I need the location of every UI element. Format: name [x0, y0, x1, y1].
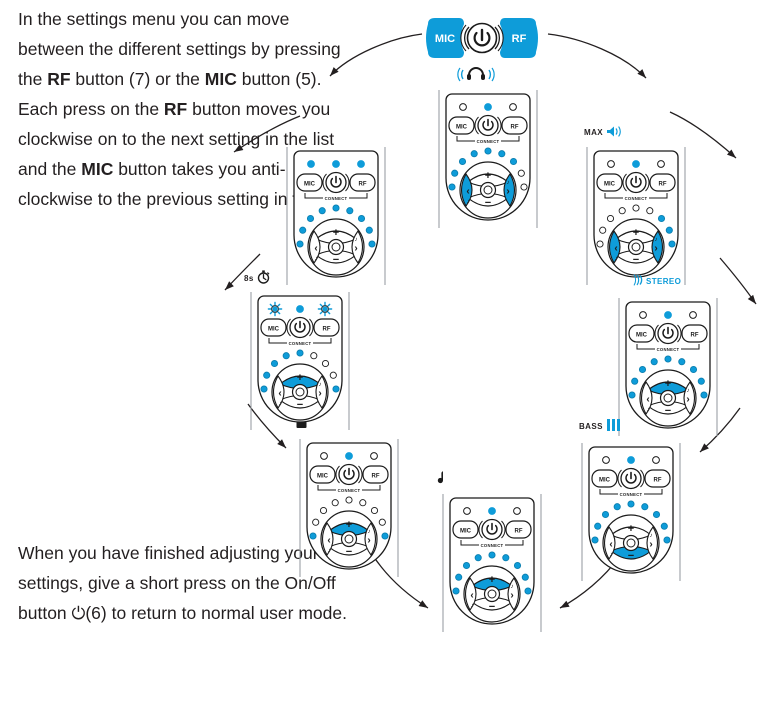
- arrow-top-left: [328, 34, 422, 78]
- svg-text:›: ›: [318, 388, 321, 399]
- rf-button[interactable]: RF: [650, 174, 675, 191]
- device-label-stereo: STEREO: [632, 274, 681, 288]
- top-led-2: [358, 161, 365, 168]
- top-led-1: [633, 161, 640, 168]
- arc-led-1: [632, 378, 638, 384]
- device-body-stereo: MICRFCONNECT+−‹›♪♪: [612, 296, 724, 438]
- music-note-icon: [436, 470, 446, 488]
- svg-text:+: +: [333, 227, 339, 239]
- ok-button[interactable]: [481, 183, 496, 198]
- arc-led-5: [347, 208, 353, 214]
- svg-text:CONNECT: CONNECT: [657, 347, 680, 352]
- mic-button[interactable]: MIC: [449, 117, 474, 134]
- svg-text:MIC: MIC: [636, 333, 648, 339]
- rf-button[interactable]: RF: [350, 174, 375, 191]
- arc-led-6: [653, 511, 659, 517]
- svg-text:‹: ‹: [314, 243, 317, 254]
- svg-text:›: ›: [649, 539, 652, 550]
- svg-text:MIC: MIC: [317, 474, 329, 480]
- stereo-waves-icon: [632, 274, 643, 288]
- top-led-1: [489, 508, 496, 515]
- right-note-glyph: ♪: [511, 584, 514, 590]
- ok-button[interactable]: [485, 587, 500, 602]
- arc-led-2: [607, 215, 613, 221]
- arc-led-7: [379, 519, 385, 525]
- arc-led-7: [522, 574, 528, 580]
- left-note-glyph: ♪: [467, 199, 470, 205]
- dpad[interactable]: +−‹›♪♪: [308, 219, 364, 275]
- svg-text:›: ›: [654, 243, 657, 254]
- svg-text:−: −: [628, 550, 634, 562]
- device-body-lock: MICRFCONNECT+−‹›♪♪: [293, 437, 405, 579]
- svg-text:MIC: MIC: [456, 125, 468, 131]
- arc-led-8: [669, 241, 675, 247]
- arc-led-5: [499, 151, 505, 157]
- arc-led-1: [600, 227, 606, 233]
- arc-led-2: [271, 360, 277, 366]
- arc-led-2: [320, 507, 326, 513]
- arc-led-5: [647, 208, 653, 214]
- top-led-2: [690, 312, 697, 319]
- arc-led-4: [489, 552, 495, 558]
- arc-led-1: [300, 227, 306, 233]
- device-headset[interactable]: MICRFCONNECT+−‹›♪♪: [432, 88, 544, 230]
- device-label-text-bass: BASS: [579, 422, 603, 431]
- svg-text:−: −: [297, 399, 303, 411]
- svg-text:MIC: MIC: [268, 327, 280, 333]
- right-note-glyph: ♪: [650, 533, 653, 539]
- rf-button[interactable]: RF: [502, 117, 527, 134]
- right-note-glyph: ♪: [355, 237, 358, 243]
- arc-led-0: [629, 392, 635, 398]
- device-body-music: MICRFCONNECT+−‹›♪♪: [436, 492, 548, 634]
- arc-led-6: [322, 360, 328, 366]
- device-music[interactable]: MICRFCONNECT+−‹›♪♪: [436, 492, 548, 634]
- top-led-2: [658, 161, 665, 168]
- device-body-bass: MICRFCONNECT+−‹›♪♪: [575, 441, 687, 583]
- power-icon[interactable]: [461, 24, 503, 53]
- arc-led-1: [456, 574, 462, 580]
- arc-led-2: [639, 366, 645, 372]
- text-run-2: button (7) or the: [71, 69, 205, 89]
- dpad[interactable]: +−‹›♪♪: [460, 162, 516, 218]
- dpad[interactable]: +−‹›♪♪: [272, 364, 328, 420]
- left-note-glyph: ♪: [328, 548, 331, 554]
- header-button-pill: MIC RF: [422, 14, 542, 62]
- arc-led-8: [664, 537, 670, 543]
- mic-button[interactable]: MIC: [629, 325, 654, 342]
- svg-text:›: ›: [367, 535, 370, 546]
- device-stereo[interactable]: STEREOMICRFCONNECT+−‹›♪♪: [612, 296, 724, 438]
- arc-led-7: [330, 372, 336, 378]
- arc-led-4: [633, 205, 639, 211]
- top-led-1: [333, 161, 340, 168]
- top-led-0: [640, 312, 647, 319]
- top-led-0: [460, 104, 467, 111]
- svg-text:‹: ‹: [470, 590, 473, 601]
- dpad[interactable]: +−‹›♪♪: [321, 511, 377, 567]
- arc-led-0: [597, 241, 603, 247]
- device-label-max: MAX: [584, 125, 622, 140]
- svg-text:RF: RF: [659, 182, 667, 188]
- arc-led-7: [518, 170, 524, 176]
- ok-button[interactable]: [293, 385, 308, 400]
- arc-led-6: [358, 215, 364, 221]
- top-led-2: [514, 508, 521, 515]
- mic-button[interactable]: MIC: [597, 174, 622, 191]
- svg-text:CONNECT: CONNECT: [289, 341, 312, 346]
- mic-pill-label: MIC: [435, 33, 455, 45]
- text-run-5: RF: [164, 99, 187, 119]
- arc-led-5: [642, 504, 648, 510]
- arc-led-2: [463, 562, 469, 568]
- dpad[interactable]: +−‹›♪♪: [464, 566, 520, 622]
- top-led-2: [371, 453, 378, 460]
- svg-text:CONNECT: CONNECT: [625, 196, 648, 201]
- arc-led-1: [452, 170, 458, 176]
- settings-cycle-diagram: MIC RF MICRFCONNECT+−‹›♪♪MAXMICRFCONNECT…: [200, 0, 764, 705]
- arc-led-5: [679, 359, 685, 365]
- brightness-star-right: [318, 302, 331, 315]
- svg-text:−: −: [346, 546, 352, 558]
- top-led-0: [464, 508, 471, 515]
- bars-icon: [606, 419, 622, 433]
- arc-led-4: [628, 501, 634, 507]
- dpad[interactable]: +−‹›♪♪: [640, 370, 696, 426]
- device-lock[interactable]: MICRFCONNECT+−‹›♪♪: [293, 437, 405, 579]
- arrow-right-mid: [720, 258, 759, 306]
- arc-led-8: [701, 392, 707, 398]
- right-note-glyph: ♪: [687, 388, 690, 394]
- arc-led-7: [698, 378, 704, 384]
- svg-text:›: ›: [510, 590, 513, 601]
- left-note-glyph: ♪: [315, 256, 318, 262]
- device-body-allon: MICRFCONNECT+−‹›♪♪: [280, 145, 392, 287]
- svg-text:CONNECT: CONNECT: [477, 139, 500, 144]
- top-led-0: [308, 161, 315, 168]
- svg-text:RF: RF: [323, 327, 331, 333]
- svg-text:+: +: [346, 519, 352, 531]
- svg-text:‹: ‹: [278, 388, 281, 399]
- arc-led-4: [485, 148, 491, 154]
- arc-led-5: [360, 500, 366, 506]
- svg-text:+: +: [485, 170, 491, 182]
- svg-text:RF: RF: [359, 182, 367, 188]
- arc-led-7: [666, 227, 672, 233]
- left-note-glyph: ♪: [610, 552, 613, 558]
- arc-led-0: [261, 386, 267, 392]
- arc-led-4: [346, 497, 352, 503]
- device-label-brightness: 8s: [244, 270, 270, 286]
- device-bass[interactable]: BASSMICRFCONNECT+−‹›♪♪: [575, 441, 687, 583]
- device-label-text-max: MAX: [584, 128, 603, 137]
- arc-led-3: [619, 208, 625, 214]
- top-led-1: [665, 312, 672, 319]
- arc-led-3: [614, 504, 620, 510]
- svg-text:MIC: MIC: [599, 478, 611, 484]
- ok-button[interactable]: [342, 532, 357, 547]
- arc-led-0: [449, 184, 455, 190]
- brightness-star-left: [268, 302, 281, 315]
- ok-button[interactable]: [661, 391, 676, 406]
- svg-text:‹: ‹: [466, 186, 469, 197]
- ok-button[interactable]: [624, 536, 639, 551]
- arc-led-3: [471, 151, 477, 157]
- arc-led-8: [333, 386, 339, 392]
- arc-led-1: [264, 372, 270, 378]
- rf-button[interactable]: RF: [314, 319, 339, 336]
- arc-led-4: [333, 205, 339, 211]
- arc-led-5: [503, 555, 509, 561]
- arc-led-7: [366, 227, 372, 233]
- svg-text:+: +: [633, 227, 639, 239]
- arc-led-1: [313, 519, 319, 525]
- left-note-glyph: ♪: [471, 603, 474, 609]
- rf-button[interactable]: RF: [506, 521, 531, 538]
- dpad[interactable]: +−‹›♪♪: [603, 515, 659, 571]
- arc-led-4: [665, 356, 671, 362]
- top-led-2: [653, 457, 660, 464]
- speaker-waves-icon: [606, 125, 622, 140]
- svg-text:‹: ‹: [327, 535, 330, 546]
- arrow-top-right: [548, 34, 648, 80]
- stopwatch-icon: [257, 270, 270, 286]
- arc-led-6: [371, 507, 377, 513]
- device-brightness[interactable]: 8sMICRFCONNECT+−‹›♪♪: [244, 290, 356, 432]
- svg-text:‹: ‹: [646, 394, 649, 405]
- arc-led-2: [459, 158, 465, 164]
- arc-led-0: [592, 537, 598, 543]
- arc-led-7: [661, 523, 667, 529]
- svg-text:›: ›: [686, 394, 689, 405]
- arc-led-8: [521, 184, 527, 190]
- device-max[interactable]: MAXMICRFCONNECT+−‹›♪♪: [580, 145, 692, 287]
- svg-text:MIC: MIC: [460, 529, 472, 535]
- text-run-7: MIC: [81, 159, 113, 179]
- top-led-1: [346, 453, 353, 460]
- svg-text:MIC: MIC: [604, 182, 616, 188]
- svg-text:−: −: [633, 254, 639, 266]
- top-led-0: [608, 161, 615, 168]
- device-body-brightness: MICRFCONNECT+−‹›♪♪: [244, 290, 356, 432]
- svg-text:CONNECT: CONNECT: [338, 488, 361, 493]
- svg-text:−: −: [333, 254, 339, 266]
- arc-led-6: [690, 366, 696, 372]
- arc-led-2: [307, 215, 313, 221]
- top-led-1: [297, 306, 304, 313]
- device-label-text-stereo: STEREO: [646, 277, 681, 286]
- svg-text:−: −: [489, 601, 495, 613]
- svg-text:−: −: [485, 197, 491, 209]
- mic-button[interactable]: MIC: [310, 466, 335, 483]
- arc-led-6: [658, 215, 664, 221]
- dpad[interactable]: +−‹›♪♪: [608, 219, 664, 275]
- right-note-glyph: ♪: [655, 237, 658, 243]
- svg-text:RF: RF: [511, 125, 519, 131]
- text-run-1: RF: [47, 69, 70, 89]
- ok-button[interactable]: [329, 240, 344, 255]
- device-all-on[interactable]: MICRFCONNECT+−‹›♪♪: [280, 145, 392, 287]
- arc-led-3: [651, 359, 657, 365]
- svg-text:RF: RF: [691, 333, 699, 339]
- mic-button[interactable]: MIC: [261, 319, 286, 336]
- top-led-1: [628, 457, 635, 464]
- svg-text:CONNECT: CONNECT: [620, 492, 643, 497]
- svg-text:RF: RF: [654, 478, 662, 484]
- arc-led-3: [332, 500, 338, 506]
- arc-led-1: [595, 523, 601, 529]
- arc-led-6: [514, 562, 520, 568]
- headphone-waves-icon: [456, 66, 496, 84]
- rf-button[interactable]: RF: [682, 325, 707, 342]
- right-note-glyph: ♪: [507, 180, 510, 186]
- svg-text:‹: ‹: [609, 539, 612, 550]
- arc-led-3: [283, 353, 289, 359]
- arc-led-3: [319, 208, 325, 214]
- svg-text:+: +: [489, 574, 495, 586]
- svg-text:‹: ‹: [614, 243, 617, 254]
- svg-text:MIC: MIC: [304, 182, 316, 188]
- arc-led-8: [525, 588, 531, 594]
- device-body-headset: MICRFCONNECT+−‹›♪♪: [432, 88, 544, 230]
- svg-text:RF: RF: [372, 474, 380, 480]
- device-label-headset: [456, 66, 496, 84]
- arc-led-0: [310, 533, 316, 539]
- mic-button[interactable]: MIC: [453, 521, 478, 538]
- device-body-max: MICRFCONNECT+−‹›♪♪: [580, 145, 692, 287]
- device-label-bass: BASS: [579, 419, 622, 433]
- mic-button[interactable]: MIC: [592, 470, 617, 487]
- arc-led-0: [297, 241, 303, 247]
- svg-text:CONNECT: CONNECT: [481, 543, 504, 548]
- rf-pill-label: RF: [512, 33, 527, 45]
- left-note-glyph: ♪: [647, 407, 650, 413]
- arc-led-4: [297, 350, 303, 356]
- svg-text:−: −: [665, 405, 671, 417]
- arc-led-5: [311, 353, 317, 359]
- arc-led-2: [602, 511, 608, 517]
- svg-text:›: ›: [354, 243, 357, 254]
- svg-text:›: ›: [506, 186, 509, 197]
- left-note-glyph: ♪: [615, 256, 618, 262]
- arc-led-0: [453, 588, 459, 594]
- rf-button[interactable]: RF: [645, 470, 670, 487]
- svg-text:CONNECT: CONNECT: [325, 196, 348, 201]
- device-label-text-brightness: 8s: [244, 274, 254, 283]
- arc-led-8: [369, 241, 375, 247]
- svg-text:+: +: [628, 523, 634, 535]
- svg-text:+: +: [297, 372, 303, 384]
- svg-text:+: +: [665, 378, 671, 390]
- top-led-0: [321, 453, 328, 460]
- rf-button[interactable]: RF: [363, 466, 388, 483]
- right-note-glyph: ♪: [368, 529, 371, 535]
- device-label-music: [436, 470, 446, 488]
- ok-button[interactable]: [629, 240, 644, 255]
- right-note-glyph: ♪: [319, 382, 322, 388]
- arc-led-6: [510, 158, 516, 164]
- left-note-glyph: ♪: [279, 401, 282, 407]
- top-led-0: [603, 457, 610, 464]
- top-led-2: [510, 104, 517, 111]
- arc-led-8: [382, 533, 388, 539]
- svg-text:RF: RF: [515, 529, 523, 535]
- mic-button[interactable]: MIC: [297, 174, 322, 191]
- arc-led-3: [475, 555, 481, 561]
- top-led-1: [485, 104, 492, 111]
